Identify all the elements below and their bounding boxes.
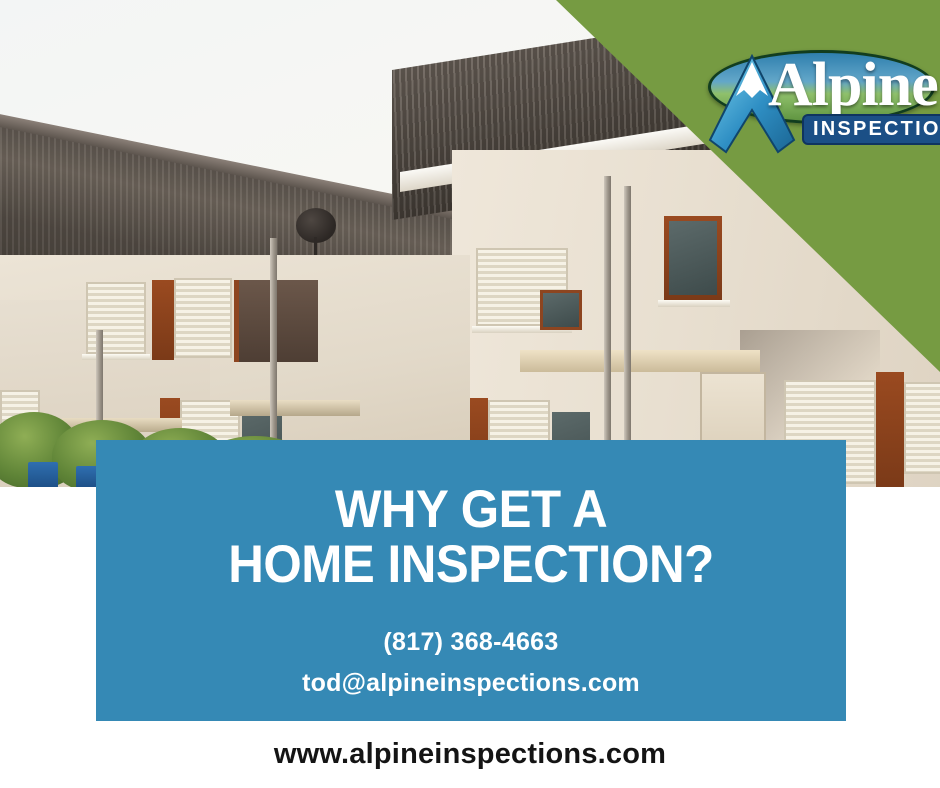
- logo-wordmark: Alpine: [768, 54, 938, 116]
- logo-sub-banner: INSPECTIONS: [802, 114, 940, 145]
- porch-canopy: [230, 400, 360, 416]
- headline-line-2: HOME INSPECTION?: [228, 538, 713, 593]
- recycling-bin: [28, 462, 58, 487]
- alpine-inspections-logo: Alpine INSPECTIONS: [690, 48, 935, 156]
- window-sill: [82, 354, 150, 360]
- garage-roller-shutter: [904, 382, 940, 474]
- satellite-dish-icon: [296, 208, 336, 243]
- window-sill: [658, 300, 730, 307]
- window-glass: [669, 221, 717, 295]
- window-frame: [152, 280, 174, 360]
- phone-number[interactable]: (817) 368-4663: [383, 628, 558, 657]
- roller-shutter: [86, 282, 146, 354]
- footer-bar: www.alpineinspections.com: [0, 721, 940, 788]
- window-glass: [540, 290, 582, 330]
- promo-graphic: Alpine INSPECTIONS WHY GET A HOME INSPEC…: [0, 0, 940, 788]
- website-url[interactable]: www.alpineinspections.com: [274, 738, 666, 771]
- roller-shutter: [174, 278, 232, 358]
- logo-sub-label: INSPECTIONS: [813, 119, 940, 139]
- page-title: WHY GET A HOME INSPECTION?: [228, 483, 713, 592]
- headline-panel: WHY GET A HOME INSPECTION? (817) 368-466…: [96, 440, 846, 721]
- garage-wood-trim: [876, 372, 904, 487]
- porch-canopy: [520, 350, 760, 372]
- headline-line-1: WHY GET A: [228, 483, 713, 538]
- email-address[interactable]: tod@alpineinspections.com: [302, 669, 640, 698]
